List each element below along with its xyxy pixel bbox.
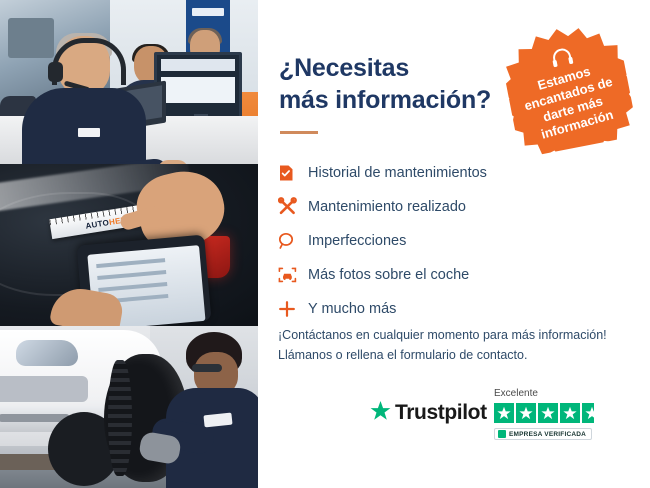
content-panel: ¿Necesitas más información? Estamos enca…	[258, 0, 650, 488]
rating-label: Excelente	[494, 388, 538, 399]
star-filled	[516, 403, 536, 423]
info-badge: Estamos encantados de darte más informac…	[498, 18, 639, 159]
title-underline	[280, 131, 318, 134]
paragraph-line-2: Llámanos o rellena el formulario de cont…	[278, 345, 634, 365]
feature-list: Historial de mantenimientos Mantenimient…	[278, 156, 618, 326]
tools-icon	[278, 197, 308, 216]
mechanic	[148, 330, 258, 488]
trustpilot-wordmark: Trustpilot	[395, 401, 487, 425]
photo-collage: AUTOHERO	[0, 0, 258, 488]
call-center-agents-photo	[0, 0, 258, 164]
paragraph-line-1: ¡Contáctanos en cualquier momento para m…	[278, 325, 634, 345]
star-rating	[494, 403, 594, 423]
list-item: Más fotos sobre el coche	[278, 258, 618, 291]
trustpilot-star-icon	[370, 400, 391, 426]
agent-foreground	[22, 36, 146, 164]
list-item: Mantenimiento realizado	[278, 190, 618, 223]
tyre-tread	[108, 360, 132, 476]
list-item-label: Mantenimiento realizado	[308, 199, 466, 215]
brand-auto: AUTO	[85, 218, 110, 231]
safety-glasses	[192, 364, 222, 372]
headlight	[16, 340, 78, 366]
trustpilot-rating: Trustpilot Excelente	[370, 388, 628, 448]
check-icon	[498, 430, 506, 438]
list-item-label: Historial de mantenimientos	[308, 165, 487, 181]
car-scan-icon	[278, 266, 308, 284]
list-item-label: Imperfecciones	[308, 233, 406, 249]
promo-card: AUTOHERO	[0, 0, 650, 488]
star-filled	[560, 403, 580, 423]
star-filled	[538, 403, 558, 423]
headset-band-icon	[52, 38, 126, 85]
list-item: Historial de mantenimientos	[278, 156, 618, 189]
grille	[0, 376, 88, 402]
title-line-1: ¿Necesitas	[279, 52, 519, 84]
document-check-icon	[278, 164, 308, 182]
star-partial	[582, 403, 594, 423]
verified-label: EMPRESA VERIFICADA	[509, 431, 586, 438]
title-line-2: más información?	[279, 84, 519, 116]
list-item-label: Y mucho más	[308, 301, 396, 317]
desktop-monitor	[154, 52, 242, 120]
page-title: ¿Necesitas más información?	[279, 52, 519, 116]
trustpilot-logo: Trustpilot	[370, 400, 487, 426]
list-item: Imperfecciones	[278, 224, 618, 257]
mechanic-wheel-photo	[0, 326, 258, 488]
list-item: Y mucho más	[278, 292, 618, 325]
star-filled	[494, 403, 514, 423]
verified-badge: EMPRESA VERIFICADA	[494, 428, 592, 440]
magnifier-icon	[278, 232, 308, 250]
plus-icon	[278, 300, 308, 318]
list-item-label: Más fotos sobre el coche	[308, 267, 469, 283]
contact-paragraph: ¡Contáctanos en cualquier momento para m…	[278, 325, 634, 366]
car-inspection-ruler-photo: AUTOHERO	[0, 164, 258, 326]
name-badge	[78, 128, 100, 137]
